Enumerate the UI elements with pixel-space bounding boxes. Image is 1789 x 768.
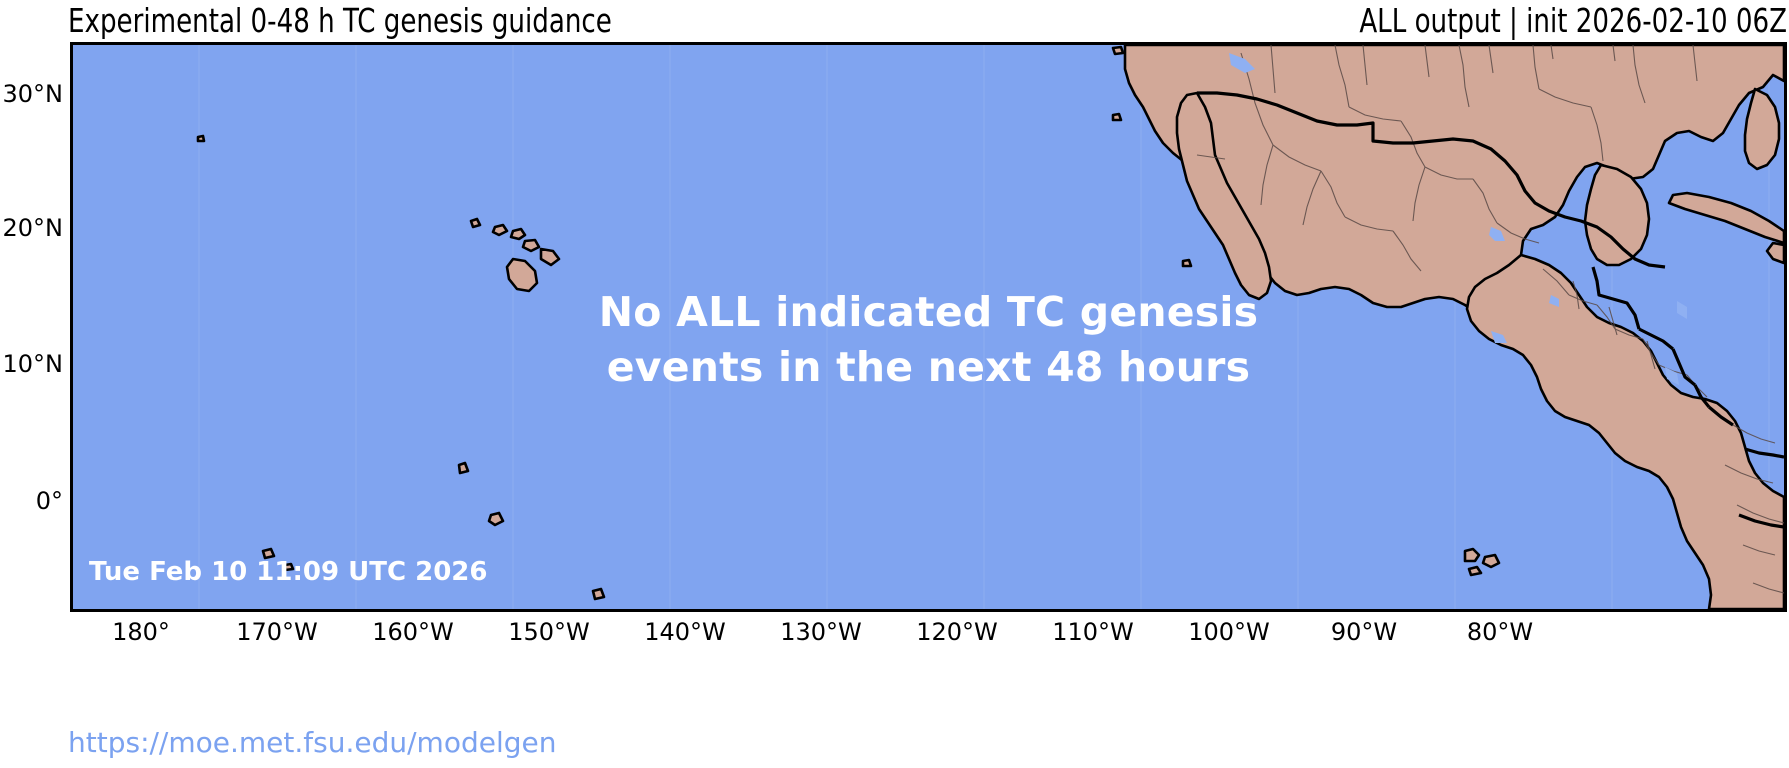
x-tick-180: 180° — [112, 620, 170, 644]
x-tick-150w: 150°W — [508, 620, 590, 644]
x-tick-110w: 110°W — [1052, 620, 1134, 644]
x-tick-80w: 80°W — [1467, 620, 1533, 644]
model-init-label: ALL output | init 2026-02-10 06Z — [1359, 4, 1787, 38]
y-tick-10n: 10°N — [1, 352, 63, 376]
x-tick-120w: 120°W — [916, 620, 998, 644]
title-bar: Experimental 0-48 h TC genesis guidance … — [0, 0, 1789, 42]
map-panel[interactable]: No ALL indicated TC genesis events in th… — [70, 42, 1787, 612]
map-geography — [73, 45, 1784, 609]
page-title: Experimental 0-48 h TC genesis guidance — [68, 4, 612, 38]
x-tick-160w: 160°W — [372, 620, 454, 644]
x-tick-90w: 90°W — [1331, 620, 1397, 644]
y-tick-20n: 20°N — [1, 216, 63, 240]
timestamp-label: Tue Feb 10 11:09 UTC 2026 — [89, 557, 487, 587]
x-tick-140w: 140°W — [644, 620, 726, 644]
x-tick-170w: 170°W — [236, 620, 318, 644]
y-tick-30n: 30°N — [1, 82, 63, 106]
y-tick-0: 0° — [1, 489, 63, 513]
source-url-link[interactable]: https://moe.met.fsu.edu/modelgen — [68, 728, 556, 758]
x-tick-100w: 100°W — [1188, 620, 1270, 644]
x-tick-130w: 130°W — [780, 620, 862, 644]
